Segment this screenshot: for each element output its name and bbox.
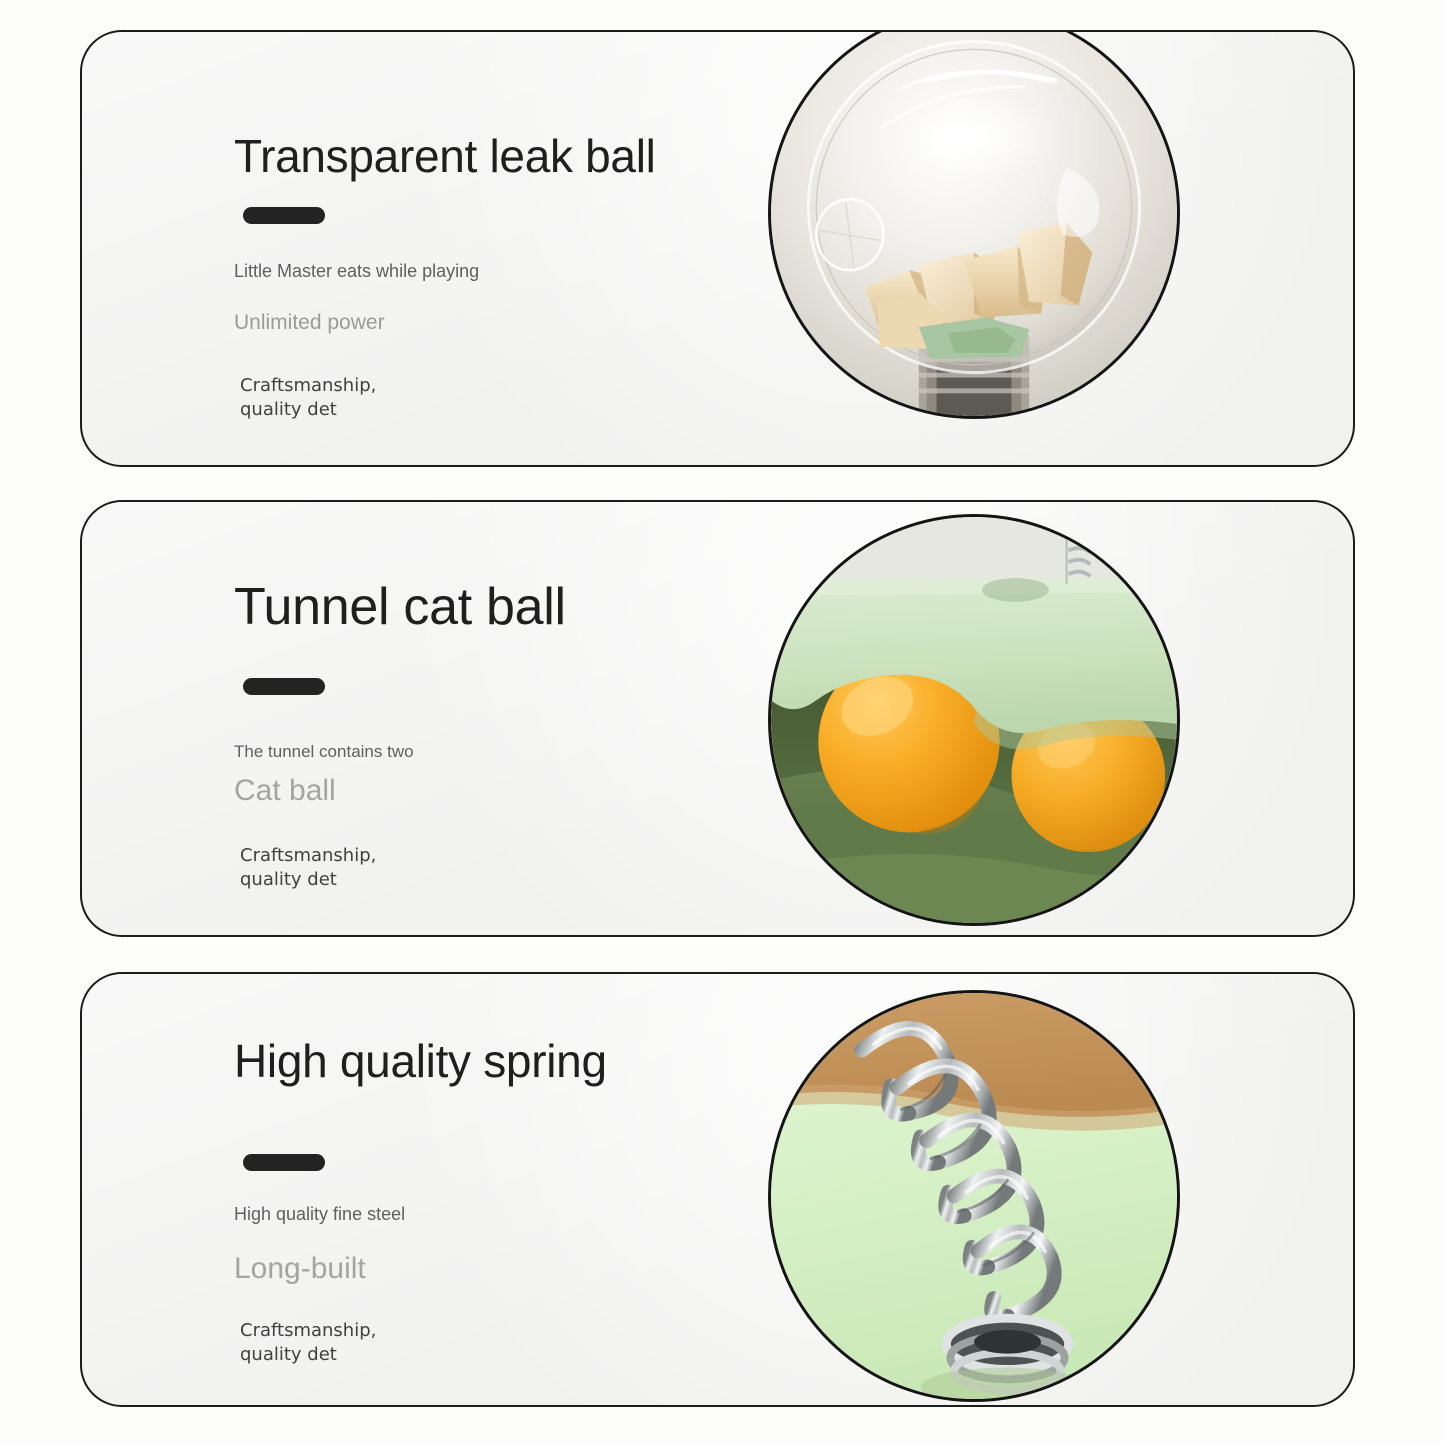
feature-cards-page: Transparent leak ball Little Master eats… bbox=[0, 0, 1445, 1445]
feature-card-transparent-leak-ball[interactable]: Transparent leak ball Little Master eats… bbox=[80, 30, 1355, 467]
card-3-craft-note: Craftsmanship, quality det bbox=[240, 1319, 520, 1367]
high-quality-spring-photo bbox=[768, 990, 1180, 1402]
tunnel-cat-ball-photo bbox=[768, 514, 1180, 926]
card-1-title: Transparent leak ball bbox=[234, 129, 656, 183]
feature-card-high-quality-spring[interactable]: High quality spring High quality fine st… bbox=[80, 972, 1355, 1407]
card-3-divider-dash bbox=[243, 1154, 325, 1171]
transparent-leak-ball-illustration bbox=[771, 30, 1177, 416]
card-2-text-column: Tunnel cat ball The tunnel contains two … bbox=[234, 502, 754, 935]
feature-card-tunnel-cat-ball[interactable]: Tunnel cat ball The tunnel contains two … bbox=[80, 500, 1355, 937]
card-2-craft-note: Craftsmanship, quality det bbox=[240, 844, 520, 892]
card-3-title: High quality spring bbox=[234, 1034, 607, 1088]
card-2-subtitle-secondary: Cat ball bbox=[234, 774, 336, 808]
high-quality-spring-illustration bbox=[771, 993, 1177, 1399]
card-1-text-column: Transparent leak ball Little Master eats… bbox=[234, 32, 754, 465]
tunnel-cat-ball-illustration bbox=[771, 517, 1177, 923]
card-2-title: Tunnel cat ball bbox=[234, 577, 566, 637]
transparent-leak-ball-photo bbox=[768, 30, 1180, 419]
card-1-subtitle-primary: Little Master eats while playing bbox=[234, 261, 534, 282]
card-2-subtitle-primary: The tunnel contains two bbox=[234, 742, 534, 762]
card-1-subtitle-secondary: Unlimited power bbox=[234, 311, 385, 335]
card-1-divider-dash bbox=[243, 207, 325, 224]
card-3-subtitle-primary: High quality fine steel bbox=[234, 1204, 464, 1225]
card-3-text-column: High quality spring High quality fine st… bbox=[234, 974, 754, 1405]
card-3-subtitle-secondary: Long-built bbox=[234, 1252, 366, 1286]
card-1-craft-note: Craftsmanship, quality det bbox=[240, 374, 520, 422]
card-2-divider-dash bbox=[243, 678, 325, 695]
